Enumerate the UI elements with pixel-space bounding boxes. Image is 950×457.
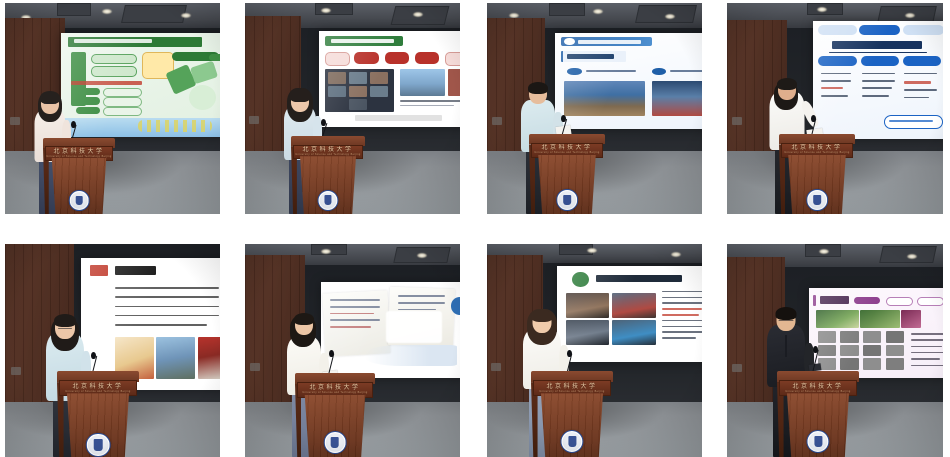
ceiling-light-icon bbox=[817, 7, 827, 12]
lecture-scene: 北京科技大学 University of Science and Technol… bbox=[245, 244, 460, 457]
seal-mark bbox=[324, 195, 331, 205]
photo-panel-8[interactable]: 北京科技大学 University of Science and Technol… bbox=[727, 244, 943, 457]
slide-chip bbox=[209, 54, 220, 61]
slide-photo-4 bbox=[612, 320, 655, 345]
ceiling-light-icon bbox=[321, 249, 331, 254]
wall-socket bbox=[491, 363, 501, 371]
slide-title-text bbox=[115, 266, 156, 275]
slide-photo-3 bbox=[566, 320, 609, 345]
university-seal-icon bbox=[560, 430, 583, 453]
slide-item-label bbox=[670, 70, 702, 72]
presenter-hair-top bbox=[776, 307, 797, 320]
slide-badge-circle bbox=[451, 297, 460, 314]
presenter-glasses bbox=[58, 328, 72, 330]
portrait-thumb bbox=[886, 345, 904, 357]
microphone-head bbox=[321, 119, 326, 126]
slide-item-number-01 bbox=[567, 68, 581, 76]
slide-paragraph-line bbox=[662, 337, 696, 339]
slide-title-text bbox=[832, 41, 922, 49]
green-emblem-icon bbox=[572, 272, 589, 287]
handwriting-line bbox=[330, 299, 380, 301]
slide-body-line bbox=[115, 315, 219, 317]
slide-badge-tilted bbox=[190, 61, 218, 84]
slide-photo-2 bbox=[612, 293, 655, 318]
wall-socket bbox=[10, 117, 20, 125]
slide-header-text bbox=[578, 40, 640, 44]
podium-nameplate-en: University of Science and Technology Bei… bbox=[534, 152, 599, 154]
lecture-scene: 北京科技大学 University of Science and Technol… bbox=[5, 3, 220, 214]
slide-body-line bbox=[115, 306, 219, 308]
photo-panel-7[interactable]: 北京科技大学 University of Science and Technol… bbox=[487, 244, 702, 457]
podium-body bbox=[301, 395, 370, 457]
slide-col-text bbox=[862, 95, 889, 97]
handwriting-line bbox=[330, 313, 374, 315]
podium-nameplate-en: University of Science and Technology Bei… bbox=[539, 391, 604, 393]
slide-paragraph-line bbox=[911, 358, 939, 360]
ceiling-light-icon bbox=[905, 13, 915, 18]
projection-screen bbox=[809, 288, 943, 378]
slide-col-text bbox=[862, 73, 895, 75]
slide-col-header bbox=[818, 56, 856, 65]
slide-footer-marks bbox=[138, 120, 212, 131]
photo-panel-1[interactable]: 北京科技大学 University of Science and Technol… bbox=[5, 3, 220, 214]
slide-col-text bbox=[821, 95, 848, 97]
slide-thumb bbox=[349, 86, 367, 98]
ceiling-light-icon bbox=[417, 253, 427, 258]
slide-title-text bbox=[331, 39, 394, 44]
podium-body bbox=[784, 155, 849, 214]
podium-nameplate-en: University of Science and Technology Bei… bbox=[295, 154, 360, 156]
seal-mark bbox=[94, 439, 103, 451]
projection-screen bbox=[813, 21, 943, 139]
ceiling-tile bbox=[57, 3, 91, 16]
lecture-scene: 北京科技大学 University of Science and Technol… bbox=[727, 244, 943, 457]
ceiling-light-icon bbox=[665, 14, 675, 19]
wall-socket bbox=[11, 367, 21, 375]
podium: 北京科技大学 University of Science and Technol… bbox=[777, 371, 859, 457]
slide-title-underline bbox=[829, 52, 927, 54]
slide-body-line bbox=[115, 296, 219, 298]
handwriting-line bbox=[398, 302, 445, 304]
portrait-thumb bbox=[863, 331, 881, 343]
slide-chip bbox=[103, 107, 142, 116]
podium-body bbox=[63, 393, 134, 457]
slide-photo-event bbox=[652, 81, 702, 116]
slide-col-text bbox=[862, 80, 895, 82]
slide-photo-side bbox=[448, 69, 460, 96]
microphone-head bbox=[329, 350, 334, 357]
projection-screen bbox=[555, 33, 702, 129]
slide-item-number-02 bbox=[652, 68, 666, 76]
photo-panel-4[interactable]: 北京科技大学 University of Science and Technol… bbox=[727, 3, 943, 214]
slide-banner-photo bbox=[901, 310, 921, 328]
podium: 北京科技大学 University of Science and Technol… bbox=[295, 373, 375, 457]
presenter-hair-top bbox=[777, 78, 797, 90]
slide-thumb bbox=[349, 72, 367, 84]
photo-panel-3[interactable]: 北京科技大学 University of Science and Technol… bbox=[487, 3, 702, 214]
presenter-hair-top bbox=[290, 88, 311, 102]
slide-tab bbox=[917, 297, 943, 306]
podium-body bbox=[537, 393, 608, 457]
portrait-thumb bbox=[840, 331, 858, 343]
slide-body-line bbox=[115, 324, 207, 326]
lecture-scene: 北京科技大学 University of Science and Technol… bbox=[245, 3, 460, 214]
podium-nameplate-cn: 北京科技大学 bbox=[792, 384, 843, 390]
slide-tab-inactive bbox=[818, 25, 856, 36]
slide-chip bbox=[103, 88, 142, 97]
presenter-hair-top bbox=[532, 310, 553, 322]
photo-grid: 北京科技大学 University of Science and Technol… bbox=[0, 0, 950, 457]
podium-body bbox=[48, 158, 110, 214]
slide-title-text bbox=[74, 39, 151, 43]
projection-screen bbox=[319, 31, 460, 127]
slide-col-text bbox=[862, 87, 892, 89]
slide-section-rule bbox=[71, 81, 142, 85]
podium-nameplate-en: University of Science and Technology Bei… bbox=[785, 391, 850, 393]
slide-col-header bbox=[861, 56, 899, 65]
university-seal-icon bbox=[556, 189, 578, 211]
slide-thumb bbox=[370, 86, 388, 98]
podium-nameplate-en: University of Science and Technology Bei… bbox=[784, 152, 849, 154]
podium: 北京科技大学 University of Science and Technol… bbox=[531, 371, 613, 457]
portrait-thumb bbox=[818, 345, 836, 357]
presenter-glasses bbox=[44, 103, 57, 105]
slide-green-strategy bbox=[61, 33, 220, 137]
slide-paragraph-line bbox=[911, 352, 943, 354]
slide-paragraph-line bbox=[662, 331, 702, 333]
slide-paragraph-line bbox=[662, 320, 702, 322]
slide-photo-campus bbox=[156, 337, 194, 379]
ceiling-light-icon bbox=[671, 252, 681, 257]
slide-col-text bbox=[904, 89, 937, 91]
presenter-hair-top bbox=[54, 314, 76, 327]
slide-chip bbox=[76, 107, 100, 114]
presenter-glasses bbox=[779, 320, 794, 322]
flow-chip bbox=[325, 52, 350, 66]
podium: 北京科技大学 University of Science and Technol… bbox=[43, 138, 115, 214]
portrait-thumb bbox=[840, 345, 858, 357]
university-seal-icon bbox=[806, 189, 828, 211]
podium: 北京科技大学 University of Science and Technol… bbox=[779, 134, 855, 214]
university-seal-icon bbox=[324, 431, 347, 454]
slide-paragraph-line bbox=[662, 302, 702, 304]
lecture-scene: 北京科技大学 University of Science and Technol… bbox=[727, 3, 943, 214]
slide-footer-pill bbox=[884, 115, 943, 129]
slide-col-header bbox=[903, 56, 941, 65]
slide-chip bbox=[91, 54, 137, 64]
microphone-head bbox=[567, 350, 572, 357]
slide-thumb bbox=[349, 99, 367, 110]
portrait-thumb bbox=[863, 358, 881, 370]
university-seal-icon bbox=[317, 190, 338, 211]
wall-socket bbox=[249, 116, 259, 124]
seal-mark bbox=[814, 436, 822, 447]
podium-body bbox=[296, 156, 360, 214]
wall-socket bbox=[250, 363, 260, 371]
podium: 北京科技大学 University of Science and Technol… bbox=[529, 134, 605, 214]
slide-footer-text bbox=[889, 120, 933, 122]
handwriting-line bbox=[330, 319, 380, 321]
seal-mark bbox=[331, 437, 339, 448]
seal-mark bbox=[563, 195, 570, 205]
podium-body bbox=[783, 393, 854, 457]
portrait-thumb bbox=[818, 331, 836, 343]
slide-tab-inactive bbox=[903, 25, 943, 36]
slide-thumb bbox=[370, 72, 388, 84]
flow-chip bbox=[415, 52, 439, 64]
slide-text-line bbox=[400, 100, 460, 102]
photo-panel-5[interactable]: 北京科技大学 University of Science and Technol… bbox=[5, 244, 220, 457]
podium: 北京科技大学 University of Science and Technol… bbox=[57, 371, 139, 457]
slide-banner-photo bbox=[816, 310, 859, 328]
slide-activity-coverage bbox=[813, 21, 943, 139]
photo-panel-2[interactable]: 北京科技大学 University of Science and Technol… bbox=[245, 3, 460, 214]
microphone-head bbox=[813, 346, 818, 353]
seal-mark bbox=[813, 195, 820, 205]
wall-socket bbox=[732, 364, 742, 372]
slide-thumb bbox=[328, 86, 346, 98]
slide-photo-ceremony bbox=[198, 337, 220, 379]
slide-item-label bbox=[586, 70, 636, 72]
china-flag-icon bbox=[90, 265, 108, 277]
slide-chip bbox=[76, 97, 100, 104]
ceiling-light-icon bbox=[593, 9, 603, 14]
university-seal-icon bbox=[69, 190, 90, 211]
university-seal-icon bbox=[806, 430, 829, 453]
slide-paragraph-line bbox=[911, 365, 943, 367]
flow-chip bbox=[385, 52, 409, 64]
slide-chip bbox=[103, 97, 142, 106]
portrait-thumb bbox=[840, 358, 858, 370]
handwriting-line bbox=[398, 295, 445, 297]
slide-chip bbox=[91, 66, 137, 76]
slide-col-text bbox=[821, 73, 851, 75]
ceiling-tile bbox=[121, 5, 187, 23]
ceiling-light-icon bbox=[907, 254, 917, 259]
slide-paragraph-line bbox=[662, 326, 702, 328]
flow-chip bbox=[445, 52, 460, 66]
slide-era-call bbox=[557, 266, 702, 362]
projection-screen bbox=[61, 33, 220, 137]
slide-tab-active bbox=[854, 297, 880, 304]
slide-col-text bbox=[904, 73, 937, 75]
podium: 北京科技大学 University of Science and Technol… bbox=[291, 136, 365, 214]
microphone-head bbox=[811, 115, 816, 122]
slide-title-text bbox=[820, 296, 848, 304]
podium-body bbox=[534, 155, 599, 214]
slide-footer-text bbox=[355, 115, 442, 121]
slide-paragraph-line bbox=[911, 339, 943, 341]
slide-banner-photo bbox=[860, 310, 900, 328]
slide-tab bbox=[886, 297, 914, 306]
seal-mark bbox=[568, 436, 576, 447]
slide-lecture-topics bbox=[809, 288, 943, 378]
slide-paragraph-line bbox=[911, 333, 943, 335]
slide-bignumber-growth bbox=[386, 311, 442, 344]
slide-paragraph-highlight bbox=[662, 308, 702, 310]
slide-photo-campus bbox=[400, 69, 445, 96]
podium-nameplate-cn: 北京科技大学 bbox=[53, 149, 104, 155]
podium-nameplate-cn: 北京科技大学 bbox=[72, 384, 123, 390]
ceiling-light-icon bbox=[819, 249, 829, 254]
projection-screen bbox=[321, 282, 460, 378]
ceiling-light-icon bbox=[321, 8, 331, 13]
slide-title-accent bbox=[813, 295, 816, 306]
microphone-head bbox=[561, 115, 566, 122]
podium-nameplate-en: University of Science and Technology Bei… bbox=[65, 391, 130, 393]
slide-paragraph-line bbox=[662, 291, 702, 293]
podium-nameplate-en: University of Science and Technology Bei… bbox=[302, 392, 367, 394]
slide-chip bbox=[76, 88, 100, 95]
handwriting-line bbox=[330, 326, 371, 328]
wall-socket bbox=[492, 117, 502, 125]
seal-mark bbox=[75, 196, 82, 206]
slide-col-highlight bbox=[904, 81, 931, 84]
wall-socket bbox=[732, 117, 742, 125]
projection-screen bbox=[557, 266, 702, 362]
ceiling-light-icon bbox=[181, 13, 191, 18]
slide-col-highlight bbox=[821, 87, 843, 89]
slide-paragraph-highlight bbox=[662, 314, 699, 316]
slide-title-text bbox=[596, 275, 682, 283]
slide-photo-1 bbox=[566, 293, 609, 318]
slide-paragraph-line bbox=[911, 346, 942, 348]
microphone-head bbox=[91, 352, 96, 359]
photo-panel-6[interactable]: 北京科技大学 University of Science and Technol… bbox=[245, 244, 460, 457]
ceiling-light-icon bbox=[413, 12, 423, 17]
slide-text-line bbox=[400, 105, 454, 107]
portrait-thumb bbox=[886, 358, 904, 370]
slide-col-text bbox=[904, 97, 928, 99]
ceiling-light-icon bbox=[102, 9, 112, 14]
slide-col-text bbox=[821, 80, 851, 82]
lecture-scene: 北京科技大学 University of Science and Technol… bbox=[487, 3, 702, 214]
slide-arrow-swoosh bbox=[365, 345, 457, 366]
slide-tab-active bbox=[859, 25, 900, 36]
slide-title-text bbox=[567, 54, 614, 59]
portrait-thumb bbox=[863, 345, 881, 357]
lecture-scene: 北京科技大学 University of Science and Technol… bbox=[487, 244, 702, 457]
presenter-hair-top bbox=[294, 313, 314, 325]
slide-body-line bbox=[115, 287, 219, 289]
slide-circle bbox=[189, 85, 216, 110]
microphone-head bbox=[71, 121, 76, 128]
ceiling-light-icon bbox=[587, 248, 597, 253]
slide-team-structure bbox=[555, 33, 702, 129]
university-seal-icon bbox=[86, 433, 111, 457]
handwriting-line bbox=[330, 306, 380, 308]
presenter-necktie bbox=[785, 335, 787, 357]
slide-thumb bbox=[328, 72, 346, 84]
lecture-scene: 北京科技大学 University of Science and Technol… bbox=[5, 244, 220, 457]
flow-chip bbox=[354, 52, 380, 64]
presenter-hair-top bbox=[528, 82, 548, 94]
ceiling-tile bbox=[549, 3, 585, 16]
slide-photo-assembly bbox=[564, 81, 645, 116]
portrait-thumb bbox=[886, 331, 904, 343]
slide-growth bbox=[321, 282, 460, 378]
podium-nameplate-cn: 北京科技大学 bbox=[546, 384, 597, 390]
slide-joint-learning bbox=[319, 31, 460, 127]
slide-paragraph-line bbox=[662, 297, 702, 299]
